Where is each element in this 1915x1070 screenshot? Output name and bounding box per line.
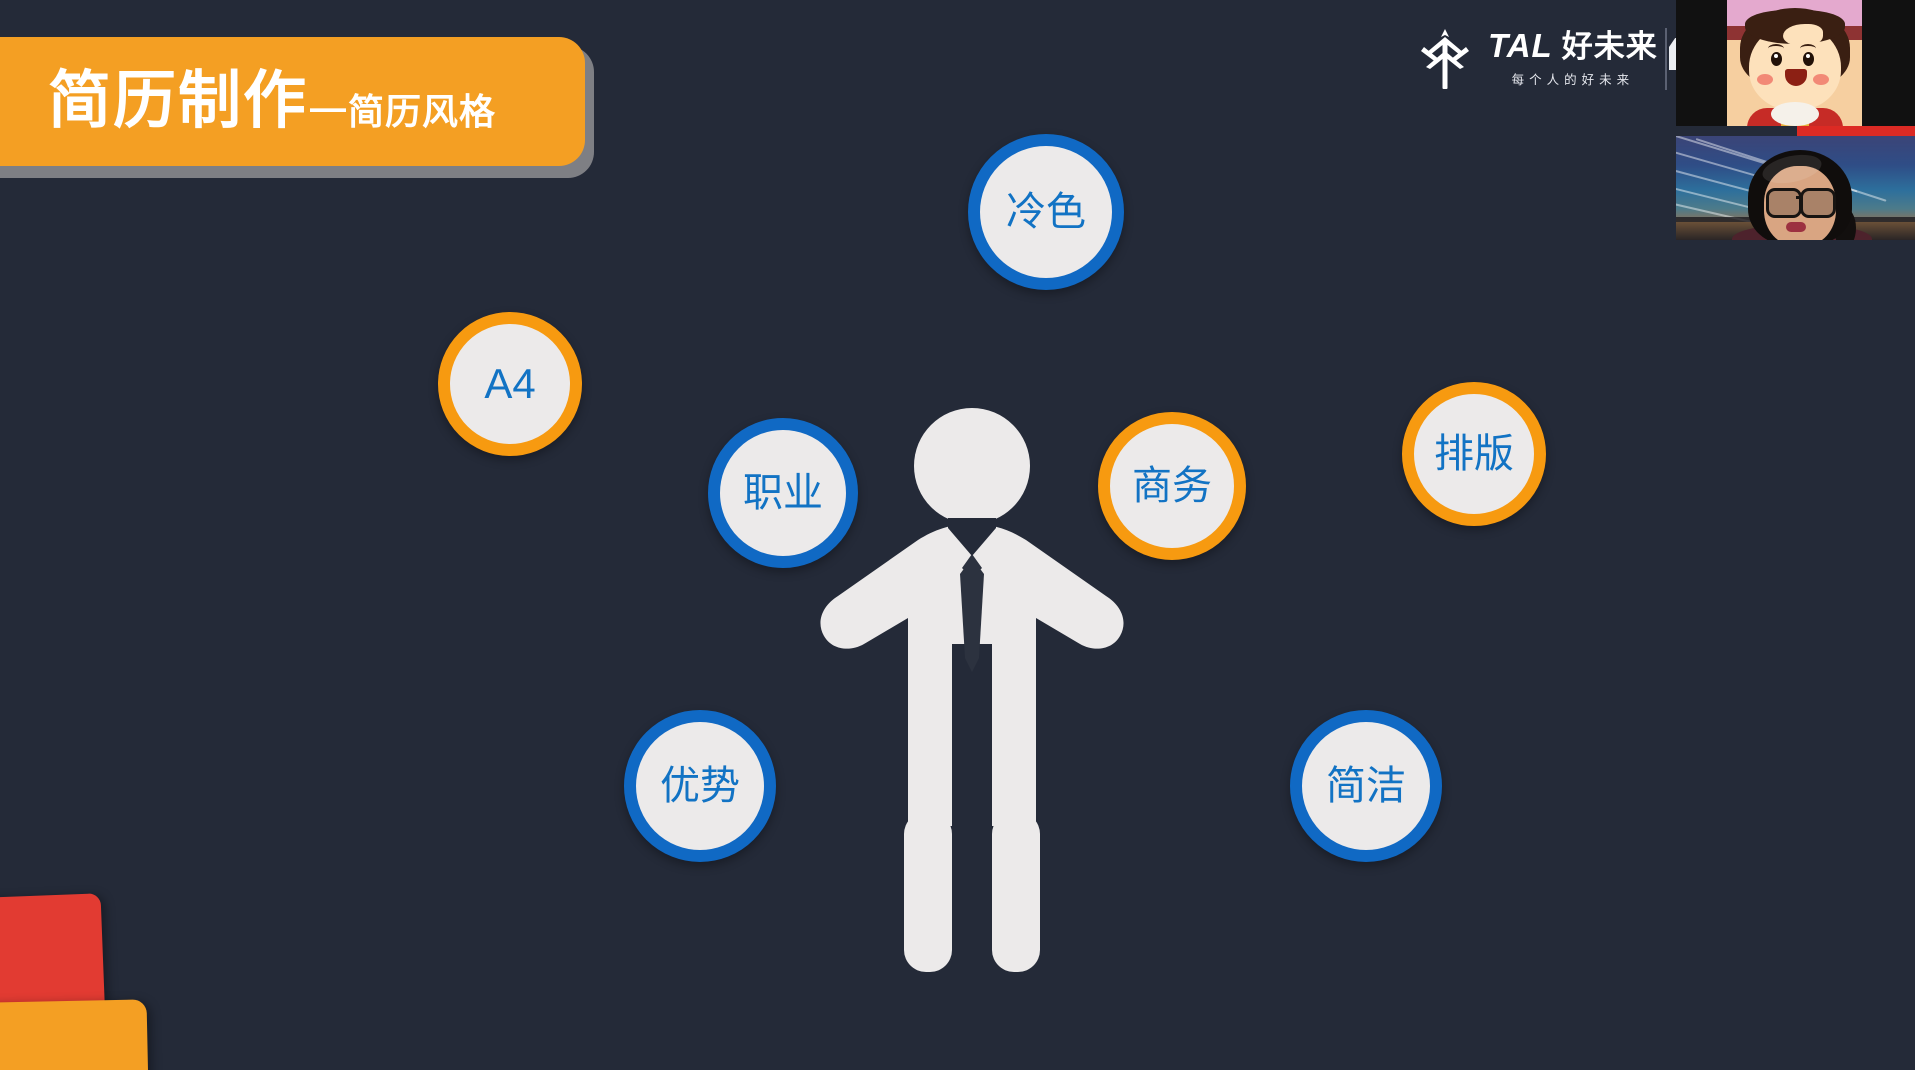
logo-brand-row: TAL 好未来 xyxy=(1488,29,1658,62)
bubble-label: A4 xyxy=(484,363,535,405)
bubble-label: 优势 xyxy=(660,766,740,806)
bubble-label: 商务 xyxy=(1132,466,1212,506)
cartoon-avatar-tile[interactable] xyxy=(1676,0,1915,126)
pine-tree-icon xyxy=(1418,27,1472,89)
presenter-video-tile[interactable] xyxy=(1676,136,1915,240)
cartoon-collar xyxy=(1771,102,1819,126)
bubble-4[interactable]: 排版 xyxy=(1402,382,1546,526)
cartoon-eye-highlight-right xyxy=(1806,54,1810,58)
tal-logo: TAL 好未来 每个人的好未来 xyxy=(1418,24,1658,92)
deco-card-orange xyxy=(0,999,149,1070)
bubble-5[interactable]: 优势 xyxy=(624,710,776,862)
bubble-3[interactable]: 商务 xyxy=(1098,412,1246,560)
bubble-1[interactable]: A4 xyxy=(438,312,582,456)
logo-brand-latin: TAL xyxy=(1488,29,1553,62)
glasses-bridge-icon xyxy=(1796,196,1802,199)
glasses-lens-left-icon xyxy=(1766,188,1802,218)
bubble-6[interactable]: 简洁 xyxy=(1290,710,1442,862)
cartoon-eye-highlight-left xyxy=(1774,54,1778,58)
bubble-label: 排版 xyxy=(1434,434,1514,474)
title-subtitle: 简历风格 xyxy=(348,94,496,130)
title-separator: — xyxy=(310,90,346,126)
logo-divider xyxy=(1665,28,1667,90)
logo-brand-cn: 好未来 xyxy=(1562,31,1658,62)
cartoon-avatar-image xyxy=(1727,0,1862,126)
bubble-label: 冷色 xyxy=(1006,192,1086,232)
cartoon-cheek-left xyxy=(1757,74,1773,85)
page-title: 简历制作 xyxy=(48,70,308,133)
cartoon-cheek-right xyxy=(1813,74,1829,85)
bubble-0[interactable]: 冷色 xyxy=(968,134,1124,290)
bubble-label: 简洁 xyxy=(1326,766,1406,806)
presenter-mouth xyxy=(1786,222,1806,232)
glasses-lens-right-icon xyxy=(1800,188,1836,218)
bubble-2[interactable]: 职业 xyxy=(708,418,858,568)
cartoon-forehead xyxy=(1783,24,1823,46)
title-banner: 简历制作 — 简历风格 xyxy=(0,37,585,166)
logo-tagline: 每个人的好未来 xyxy=(1488,69,1658,88)
logo-text: TAL 好未来 每个人的好未来 xyxy=(1488,29,1658,88)
bubble-label: 职业 xyxy=(743,473,823,513)
presentation-slide: 简历制作 — 简历风格 TAL 好未来 每个人的好未来 xyxy=(0,0,1915,1070)
